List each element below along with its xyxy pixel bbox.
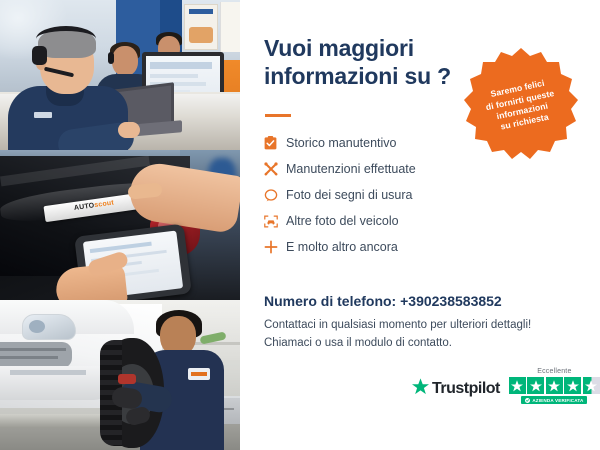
trustpilot-stars [509,377,600,394]
trustpilot-logo: Trustpilot [412,378,500,404]
photo-mechanic-wheel-white-car [0,300,240,450]
page-title: Vuoi maggiori informazioni su ? [264,34,474,90]
page-title-line2: informazioni su ? [264,62,474,90]
contact-text-line2: Chiamaci o usa il modulo di contatto. [264,337,452,349]
clipboard-check-icon [264,136,286,150]
photo-column: AUTOscout [0,0,240,450]
content-panel: Vuoi maggiori informazioni su ? Saremo f… [240,0,600,450]
feature-label: Foto dei segni di usura [286,188,412,202]
trustpilot-rating-word: Eccellente [537,368,571,375]
feature-list: Storico manutentivo Manutenzioni effettu… [264,130,524,260]
trustpilot-star-icon [412,378,429,400]
phone-number: Numero di telefono: +390238583852 [264,293,502,309]
star-filled-4 [564,377,581,394]
feature-label: E molto altro ancora [286,240,398,254]
star-filled-1 [509,377,526,394]
feature-label: Altre foto del veicolo [286,214,399,228]
feature-label: Storico manutentivo [286,136,396,150]
contact-text-line1: Contattaci in qualsiasi momento per ulte… [264,319,531,331]
trustpilot-verified-badge: AZIENDA VERIFICATA [521,396,587,404]
star-filled-2 [527,377,544,394]
trustpilot-rating: Trustpilot Eccellente AZIENDA VERIFICATA [412,368,600,404]
title-divider [265,114,291,117]
promo-banner: AUTOscout [0,0,600,450]
feature-item-foto-segni-usura: Foto dei segni di usura [264,182,524,208]
photo-call-center-operator-headset [0,0,240,150]
feature-item-storico-manutentivo: Storico manutentivo [264,130,524,156]
verified-label: AZIENDA VERIFICATA [532,398,583,403]
plus-icon [264,240,286,254]
photo-inspection-measuring-strip-tablet: AUTOscout [0,150,240,300]
star-partial-5 [583,377,600,394]
wrench-tools-icon [264,162,286,176]
feature-label: Manutenzioni effettuate [286,162,416,176]
speech-bubble-icon [264,189,286,202]
feature-item-manutenzioni-effettuate: Manutenzioni effettuate [264,156,524,182]
page-title-line1: Vuoi maggiori [264,34,474,62]
photo-frame-icon [264,215,286,228]
check-circle-icon [525,398,530,403]
trustpilot-score-block: Eccellente AZIENDA VERIFICATA [509,368,600,404]
star-filled-3 [546,377,563,394]
feature-item-molto-altro: E molto altro ancora [264,234,524,260]
trustpilot-wordmark: Trustpilot [432,380,500,398]
feature-item-altre-foto-veicolo: Altre foto del veicolo [264,208,524,234]
